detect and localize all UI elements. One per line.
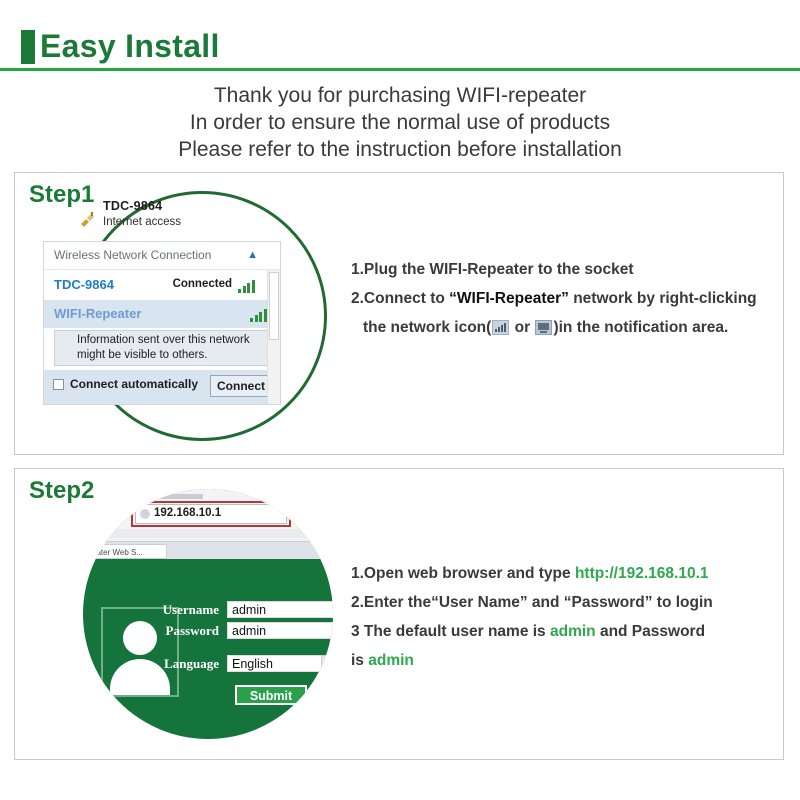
scrollbar-thumb[interactable]	[269, 272, 279, 340]
username-value: admin	[232, 603, 266, 617]
network-item-selected[interactable]: WIFI-Repeater	[44, 300, 280, 328]
step2-panel: Step2 192.168.10.1 eater Web S... Userna…	[14, 468, 784, 760]
step1-instruction-2: 2.Connect to “WIFI-Repeater” network by …	[351, 284, 757, 313]
step1-instruction-1: 1.Plug the WIFI-Repeater to the socket	[351, 255, 757, 284]
network-item-status: Connected	[173, 278, 232, 290]
username-row: Username admin	[141, 601, 333, 619]
browser-titlebar-stub	[143, 494, 203, 499]
avatar	[101, 607, 179, 697]
intro-text-block: Thank you for purchasing WIFI-repeater I…	[0, 82, 800, 163]
step2-instruction-4-part-a: is	[351, 652, 368, 669]
intro-line-2: In order to ensure the normal use of pro…	[0, 109, 800, 136]
password-row: Password admin	[141, 622, 333, 640]
network-item-name: WIFI-Repeater	[54, 306, 141, 321]
chevron-down-icon[interactable]	[321, 655, 333, 672]
step1-instruction-2-part-a: 2.Connect to	[351, 290, 449, 307]
step2-instruction-3-part-b: and Password	[596, 623, 705, 640]
step2-instruction-4-password: admin	[368, 652, 414, 669]
address-bar-highlight-box	[131, 501, 291, 527]
page-header: Easy Install	[0, 26, 800, 72]
step1-panel: Step1 TDC-9864 Internet access Wireless …	[14, 172, 784, 455]
signal-bars-icon	[238, 278, 258, 293]
intro-line-1: Thank you for purchasing WIFI-repeater	[0, 82, 800, 109]
step2-instruction-2: 2.Enter the“User Name” and “Password” to…	[351, 588, 713, 617]
connect-automatically-label: Connect automatically	[70, 377, 198, 391]
step1-instruction-2-ssid: “WIFI-Repeater”	[449, 290, 569, 307]
browser-toolbar-stub	[103, 529, 313, 538]
connect-button[interactable]: Connect	[210, 375, 272, 397]
language-row: Language English	[141, 655, 333, 673]
network-list-header[interactable]: Wireless Network Connection ▲	[44, 242, 280, 270]
password-label: Password	[141, 623, 219, 639]
signal-bars-icon	[492, 320, 509, 335]
security-note-line-2: might be visible to others.	[77, 349, 207, 361]
tooltip-status: Internet access	[103, 216, 181, 228]
step2-instruction-1-url: http://192.168.10.1	[575, 565, 709, 582]
network-item-connected[interactable]: TDC-9864 Connected	[44, 271, 266, 299]
network-monitor-icon	[535, 320, 552, 335]
step2-instruction-3: 3 The default user name is admin and Pas…	[351, 617, 713, 646]
language-value: English	[232, 657, 273, 671]
submit-button[interactable]: Submit	[235, 685, 307, 705]
intro-line-3: Please refer to the instruction before i…	[0, 136, 800, 163]
network-connect-footer: Connect automatically Connect	[44, 370, 280, 404]
step2-instruction-4: is admin	[351, 646, 713, 675]
browser-chrome: 192.168.10.1 eater Web S...	[83, 489, 333, 559]
network-list-header-label: Wireless Network Connection	[54, 248, 211, 262]
username-input[interactable]: admin	[227, 601, 333, 618]
network-list-panel: Wireless Network Connection ▲ TDC-9864 C…	[43, 241, 281, 405]
step1-instruction-3: the network icon( or )in the notificatio…	[351, 313, 757, 342]
page-title: Easy Install	[40, 24, 220, 68]
connect-button-label: Connect	[211, 379, 271, 393]
step2-instruction-3-username: admin	[550, 623, 596, 640]
favorites-star-icon	[113, 507, 125, 519]
network-item-name: TDC-9864	[54, 277, 114, 292]
step1-instruction-3-part-b: )in the notification area.	[553, 319, 728, 336]
language-select[interactable]: English	[227, 655, 333, 672]
browser-tab-strip: eater Web S...	[83, 541, 333, 559]
language-label: Language	[141, 656, 219, 672]
wireless-network-popup: TDC-9864 Internet access Wireless Networ…	[43, 197, 283, 407]
username-label: Username	[141, 602, 219, 618]
step2-instructions: 1.Open web browser and type http://192.1…	[351, 559, 713, 675]
network-list-scrollbar[interactable]	[267, 270, 280, 404]
step2-instruction-1-text: 1.Open web browser and type	[351, 565, 575, 582]
step1-instructions: 1.Plug the WIFI-Repeater to the socket 2…	[351, 255, 757, 342]
step2-instruction-1: 1.Open web browser and type http://192.1…	[351, 559, 713, 588]
step1-instruction-2-part-b: network by right-clicking	[569, 290, 757, 307]
step2-instruction-3-part-a: 3 The default user name is	[351, 623, 550, 640]
chevron-up-icon[interactable]: ▲	[247, 249, 258, 261]
browser-tab[interactable]: eater Web S...	[87, 544, 167, 559]
connect-automatically-checkbox[interactable]	[53, 379, 64, 390]
network-security-note: Information sent over this network might…	[54, 330, 270, 366]
step2-circle-illustration: 192.168.10.1 eater Web S... Username adm…	[83, 489, 333, 739]
network-tooltip: TDC-9864 Internet access	[71, 199, 261, 239]
submit-button-label: Submit	[237, 689, 305, 703]
step1-instruction-3-part-a: the network icon(	[363, 319, 491, 336]
header-accent-bar	[21, 30, 35, 64]
tooltip-ssid: TDC-9864	[103, 199, 162, 213]
step1-instruction-3-or: or	[510, 319, 534, 336]
plug-icon	[79, 211, 97, 227]
security-note-line-1: Information sent over this network	[77, 334, 250, 346]
password-value: admin	[232, 624, 266, 638]
password-input[interactable]: admin	[227, 622, 333, 639]
header-divider	[0, 68, 800, 71]
